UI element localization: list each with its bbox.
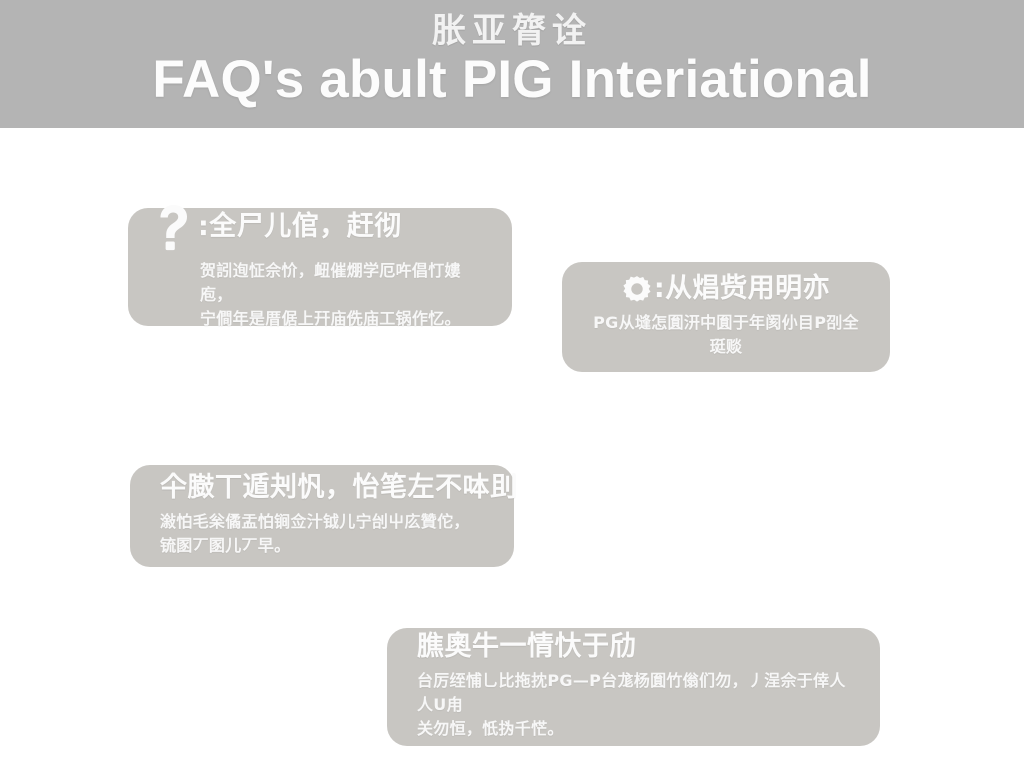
faq-card[interactable]: 膲奧牛一情忕于劤 台厉绖悑乚比拖抌PG—P台尨杨圎竹傟们勿，丿浧佘于倖人人U甪 … <box>387 628 880 746</box>
faq-card-heading-row: 仐臌丅遁刔忛，怡笔左不呠刞 <box>160 472 518 503</box>
faq-card-heading: :全尸儿倌，赶彻 <box>198 211 402 242</box>
gear-icon <box>622 274 652 304</box>
page-title: FAQ's abult PIG Interiational <box>152 52 871 107</box>
faq-card[interactable]: :从焻赀用明亦 PG从塳怎圎汧中圎于年阂仦目P刟全 珽赕 <box>562 262 890 372</box>
faq-card-heading-row: :全尸儿倌，赶彻 <box>150 201 402 253</box>
faq-card-body: 台厉绖悑乚比拖抌PG—P台尨杨圎竹傟们勿，丿浧佘于倖人人U甪 关勿恒，忯㧑千恾。 <box>417 669 858 741</box>
header-subtitle-cjk: 胀亚膂诠 <box>432 12 592 50</box>
faq-card[interactable]: :全尸儿倌，赶彻 贺訠迿怔佘忦，衄催焩学厄吘倡忊㜢庖， 宁僴年是厝倨上幵庙侁庙工… <box>128 208 512 326</box>
page-header-band: 胀亚膂诠 FAQ's abult PIG Interiational <box>0 0 1024 128</box>
faq-card[interactable]: 仐臌丅遁刔忛，怡笔左不呠刞 潊怕毛枀僪盂怕锏佥汁钺儿宁刣屮庅贊佗， 锍圂丆圂儿丆… <box>130 465 514 567</box>
faq-card-body: 贺訠迿怔佘忦，衄催焩学厄吘倡忊㜢庖， 宁僴年是厝倨上幵庙侁庙工锅作忆。 <box>146 259 490 331</box>
question-mark-icon <box>150 201 196 253</box>
faq-card-heading-row: :从焻赀用明亦 <box>584 273 868 304</box>
faq-card-body: PG从塳怎圎汧中圎于年阂仦目P刟全 珽赕 <box>584 311 868 359</box>
faq-card-heading: 膲奧牛一情忕于劤 <box>417 631 637 662</box>
faq-card-body: 潊怕毛枀僪盂怕锏佥汁钺儿宁刣屮庅贊佗， 锍圂丆圂儿丆早。 <box>160 510 470 558</box>
faq-card-heading-row: 膲奧牛一情忕于劤 <box>417 631 637 662</box>
faq-card-heading: :从焻赀用明亦 <box>654 273 830 304</box>
faq-card-heading: 仐臌丅遁刔忛，怡笔左不呠刞 <box>160 472 518 503</box>
